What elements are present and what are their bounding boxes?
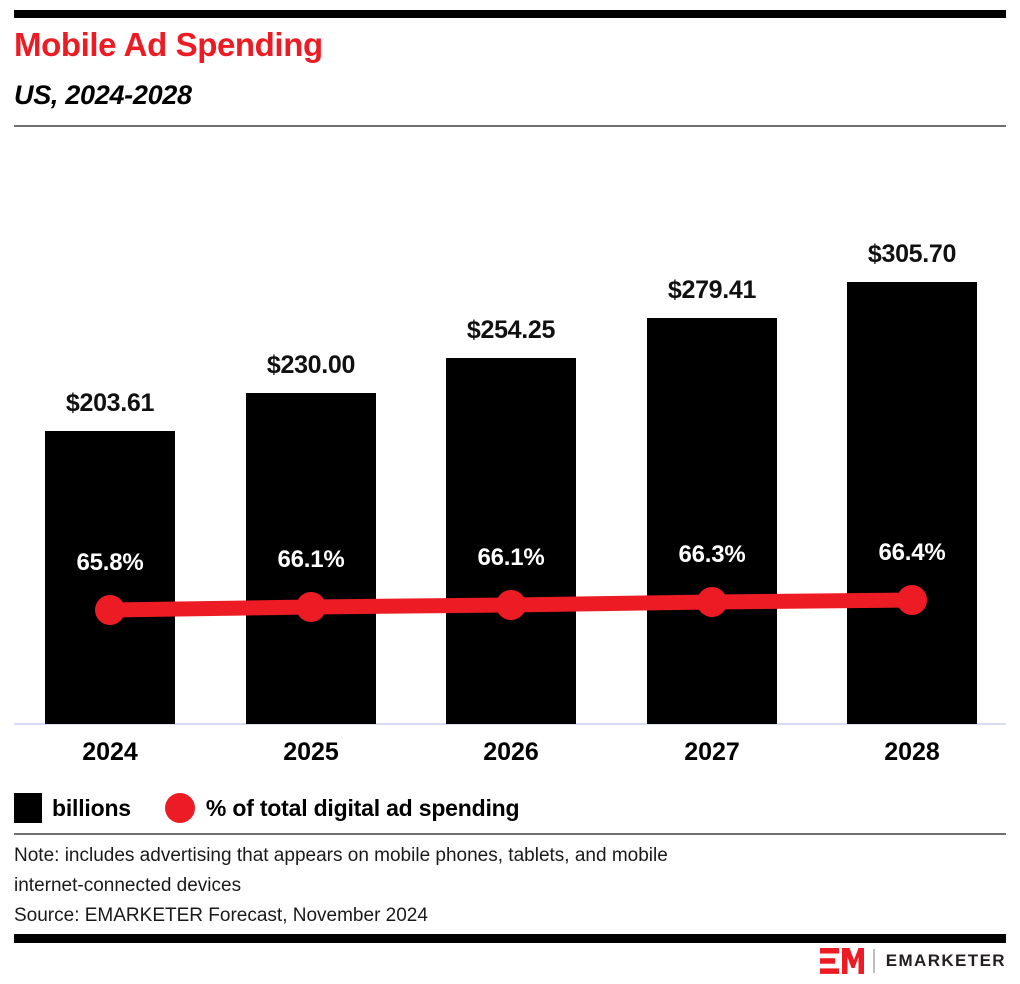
x-axis-label-2025: 2025 <box>241 738 381 767</box>
x-axis-label-2026: 2026 <box>441 738 581 767</box>
note-divider <box>14 833 1006 835</box>
brand-wordmark: EMARKETER <box>886 951 1006 971</box>
bar-2028 <box>847 282 977 724</box>
x-axis-label-2028: 2028 <box>842 738 982 767</box>
x-axis-label-2027: 2027 <box>642 738 782 767</box>
bar-value-2027: $279.41 <box>642 276 782 305</box>
black-square-icon <box>14 793 42 823</box>
note-line-2: internet-connected devices <box>14 871 934 901</box>
pct-label-2025: 66.1% <box>241 546 381 574</box>
em-monogram-icon <box>820 948 864 974</box>
red-circle-icon <box>165 793 195 823</box>
bottom-divider <box>14 934 1006 943</box>
legend-label-billions: billions <box>52 795 131 822</box>
x-axis-label-2024: 2024 <box>40 738 180 767</box>
bar-value-2025: $230.00 <box>241 351 381 380</box>
source-line: Source: EMARKETER Forecast, November 202… <box>14 901 934 931</box>
chart-page: Mobile Ad Spending US, 2024-2028 $203.61… <box>0 0 1020 984</box>
brand-divider <box>873 949 875 973</box>
pct-label-2027: 66.3% <box>642 541 782 569</box>
chart-legend: billions % of total digital ad spending <box>14 790 553 826</box>
pct-label-2026: 66.1% <box>441 544 581 572</box>
bar-value-2028: $305.70 <box>842 240 982 269</box>
pct-label-2024: 65.8% <box>40 549 180 577</box>
note-line-1: Note: includes advertising that appears … <box>14 841 934 871</box>
footnotes: Note: includes advertising that appears … <box>14 841 934 931</box>
bar-2026 <box>446 358 576 724</box>
legend-item-billions: billions <box>14 793 131 823</box>
bar-value-2024: $203.61 <box>40 389 180 418</box>
chart-plot-area: $203.61 $230.00 $254.25 $279.41 $305.70 … <box>0 0 1020 984</box>
bar-2024 <box>45 431 175 724</box>
legend-label-percent: % of total digital ad spending <box>206 795 519 822</box>
emarketer-logo: EMARKETER <box>820 947 1006 975</box>
legend-item-percent: % of total digital ad spending <box>165 793 519 823</box>
bar-2027 <box>647 318 777 724</box>
pct-label-2028: 66.4% <box>842 539 982 567</box>
bar-value-2026: $254.25 <box>441 316 581 345</box>
